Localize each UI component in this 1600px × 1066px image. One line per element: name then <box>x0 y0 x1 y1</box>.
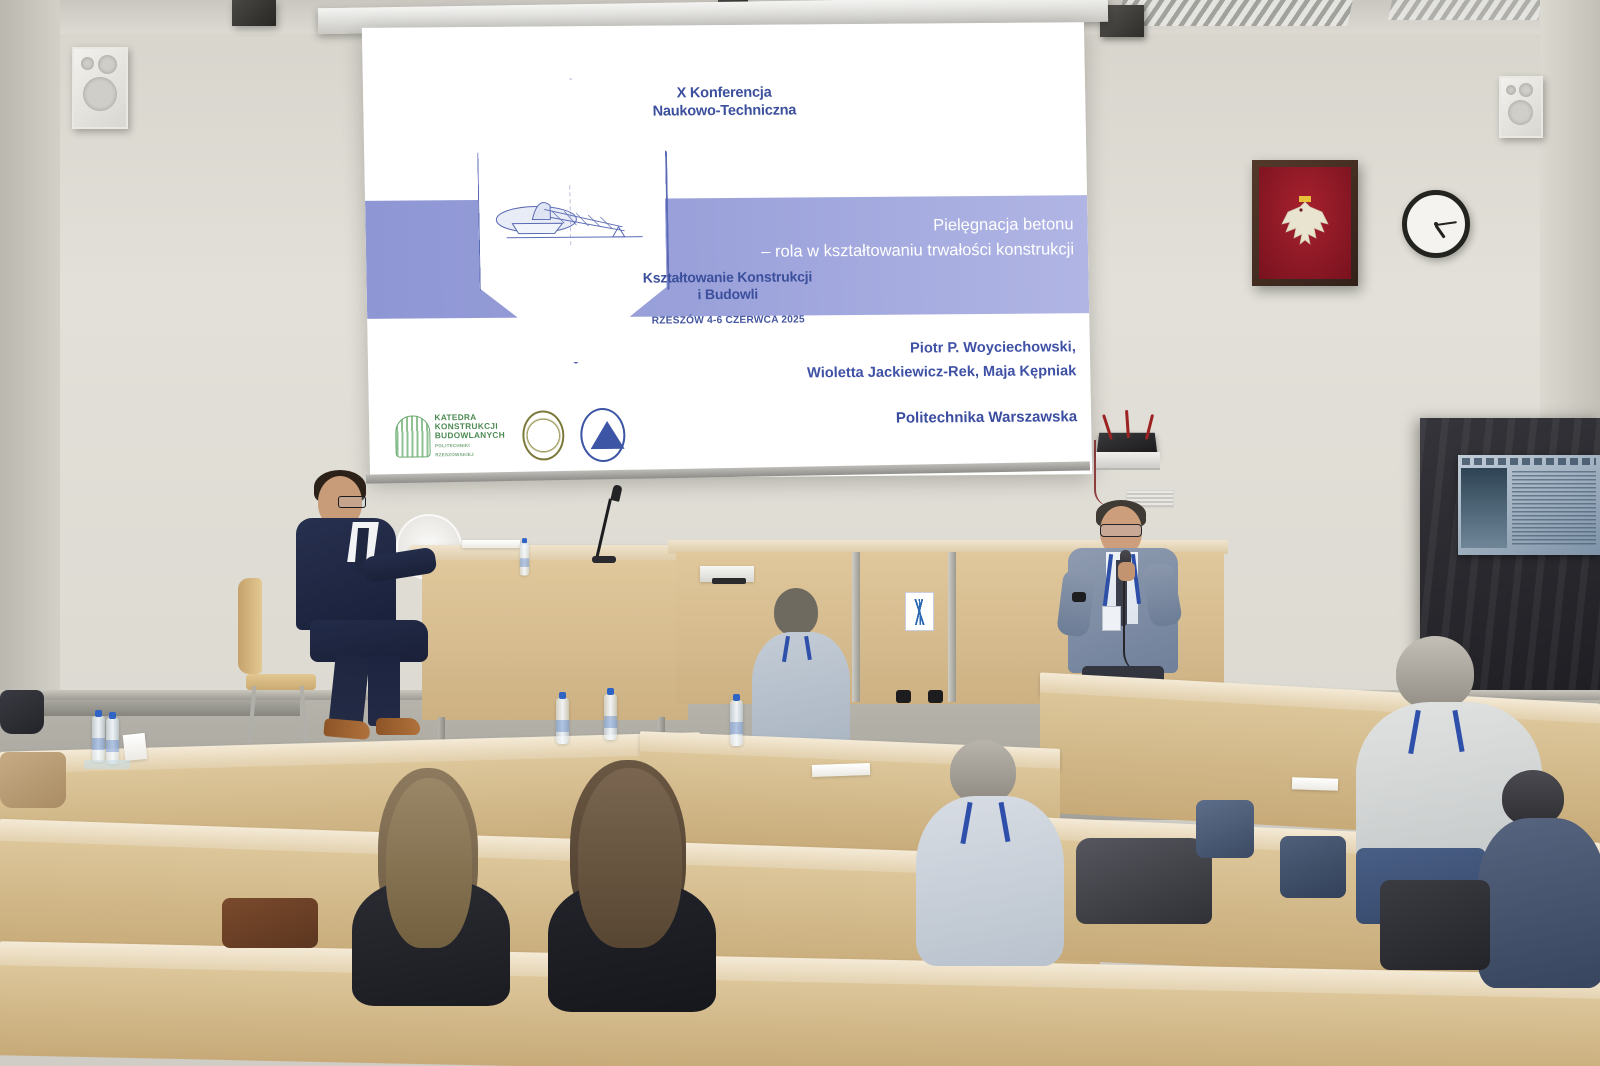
attendee-torso <box>916 796 1064 966</box>
attendee-head <box>774 588 818 636</box>
chair-right <box>1280 836 1346 898</box>
lectern-body <box>422 560 688 720</box>
laptop-on-lectern[interactable] <box>462 540 520 548</box>
microphone-base <box>592 556 616 563</box>
wall-speaker-left-icon <box>72 47 128 129</box>
glasses-icon <box>1100 524 1142 537</box>
desk-post <box>948 552 956 702</box>
presenter-hand <box>1118 562 1135 581</box>
building-mark-icon <box>395 415 430 457</box>
attendee-hair-front <box>578 768 682 948</box>
attendee-torso <box>1478 818 1600 988</box>
moderator-shoe <box>376 718 420 735</box>
cable <box>712 578 746 584</box>
glass-coaster <box>84 760 130 769</box>
presentation-slide: X Konferencja Naukowo-Techniczna Kształt… <box>362 22 1092 480</box>
moderator-leg <box>368 656 400 726</box>
bottle-lectern[interactable] <box>520 542 529 575</box>
ceiling-speaker-2-icon <box>232 0 276 26</box>
floor-socket <box>896 690 911 703</box>
conference-poster <box>1458 455 1600 555</box>
clock-minute-hand <box>1436 221 1457 226</box>
conference-logo-line3: Kształtowanie Konstrukcji i Budowli <box>366 266 1089 305</box>
left-wall <box>0 0 60 760</box>
chair-right <box>1196 800 1254 858</box>
backpack <box>1380 880 1490 970</box>
microphone-cord <box>1123 578 1145 674</box>
conference-logo-line1: X Konferencja Naukowo-Techniczna <box>363 82 1086 123</box>
name-badge <box>1102 606 1121 631</box>
ceiling-light-grille <box>1117 0 1353 26</box>
handbag <box>0 752 66 808</box>
slide-logo-row: KATEDRA KONSTRUKCJI BUDOWLANYCH POLITECH… <box>395 404 626 468</box>
water-bottle[interactable] <box>730 700 743 746</box>
attendee-front-right <box>548 760 718 1010</box>
katedra-konstrukcji-budowlanych-logo: KATEDRA KONSTRUKCJI BUDOWLANYCH POLITECH… <box>395 413 507 460</box>
water-bottle[interactable] <box>556 698 569 744</box>
water-bottle[interactable] <box>106 718 119 764</box>
presenter-clicker[interactable] <box>1072 592 1086 602</box>
slide-title-line2: – rola w kształtowaniu trwałości konstru… <box>624 236 1075 267</box>
slide-authors: Piotr P. Woyciechowski, Wioletta Jackiew… <box>606 335 1077 387</box>
notebook-on-desk[interactable] <box>812 763 870 777</box>
slide-affiliation: Politechnika Warszawska <box>677 408 1077 428</box>
attendee-front-left <box>352 768 512 1008</box>
lectern <box>418 545 690 735</box>
slide-title: Pielęgnacja betonu – rola w kształtowani… <box>623 212 1074 267</box>
izba-inzynierow-seal-icon <box>522 410 565 460</box>
leather-bag <box>222 898 318 948</box>
pzitb-gear-logo-icon <box>580 408 626 462</box>
water-bottle[interactable] <box>92 716 105 762</box>
lecture-hall-scene: X Konferencja Naukowo-Techniczna Kształt… <box>0 0 1600 1066</box>
slide-title-line1: Pielęgnacja betonu <box>623 212 1073 240</box>
chair-leg <box>247 686 256 744</box>
prz-logo-sticker <box>905 592 934 631</box>
polish-eagle-emblem-frame <box>1252 160 1358 286</box>
wall-speaker-right-icon <box>1499 76 1543 138</box>
router-wall-bracket <box>1096 452 1160 470</box>
projection-screen: X Konferencja Naukowo-Techniczna Kształt… <box>362 22 1092 480</box>
moderator-shoe <box>323 718 370 740</box>
attendee-far-right <box>1478 770 1600 1000</box>
eagle-icon <box>1278 192 1332 254</box>
chair-back <box>238 578 262 674</box>
water-bottle[interactable] <box>604 694 617 740</box>
glasses-icon <box>338 496 366 508</box>
slide-authors-line2: Wioletta Jackiewicz-Rek, Maja Kępniak <box>606 359 1076 387</box>
wall-clock <box>1402 190 1470 258</box>
slide-authors-line1: Piotr P. Woyciechowski, <box>606 335 1076 363</box>
notebook-on-desk[interactable] <box>1292 777 1338 791</box>
clock-hour-hand <box>1435 225 1446 239</box>
floor-socket <box>928 690 943 703</box>
attendee-hair-front <box>386 778 472 948</box>
attendee-mid-right <box>916 740 1066 970</box>
attendee-head <box>1396 636 1474 710</box>
seated-moderator <box>280 470 440 750</box>
ceiling-light-grille-2 <box>1388 0 1542 20</box>
dark-bag <box>0 690 44 734</box>
coat-on-desk <box>1076 838 1212 924</box>
attendee-head <box>950 740 1016 804</box>
place-card <box>123 733 148 761</box>
